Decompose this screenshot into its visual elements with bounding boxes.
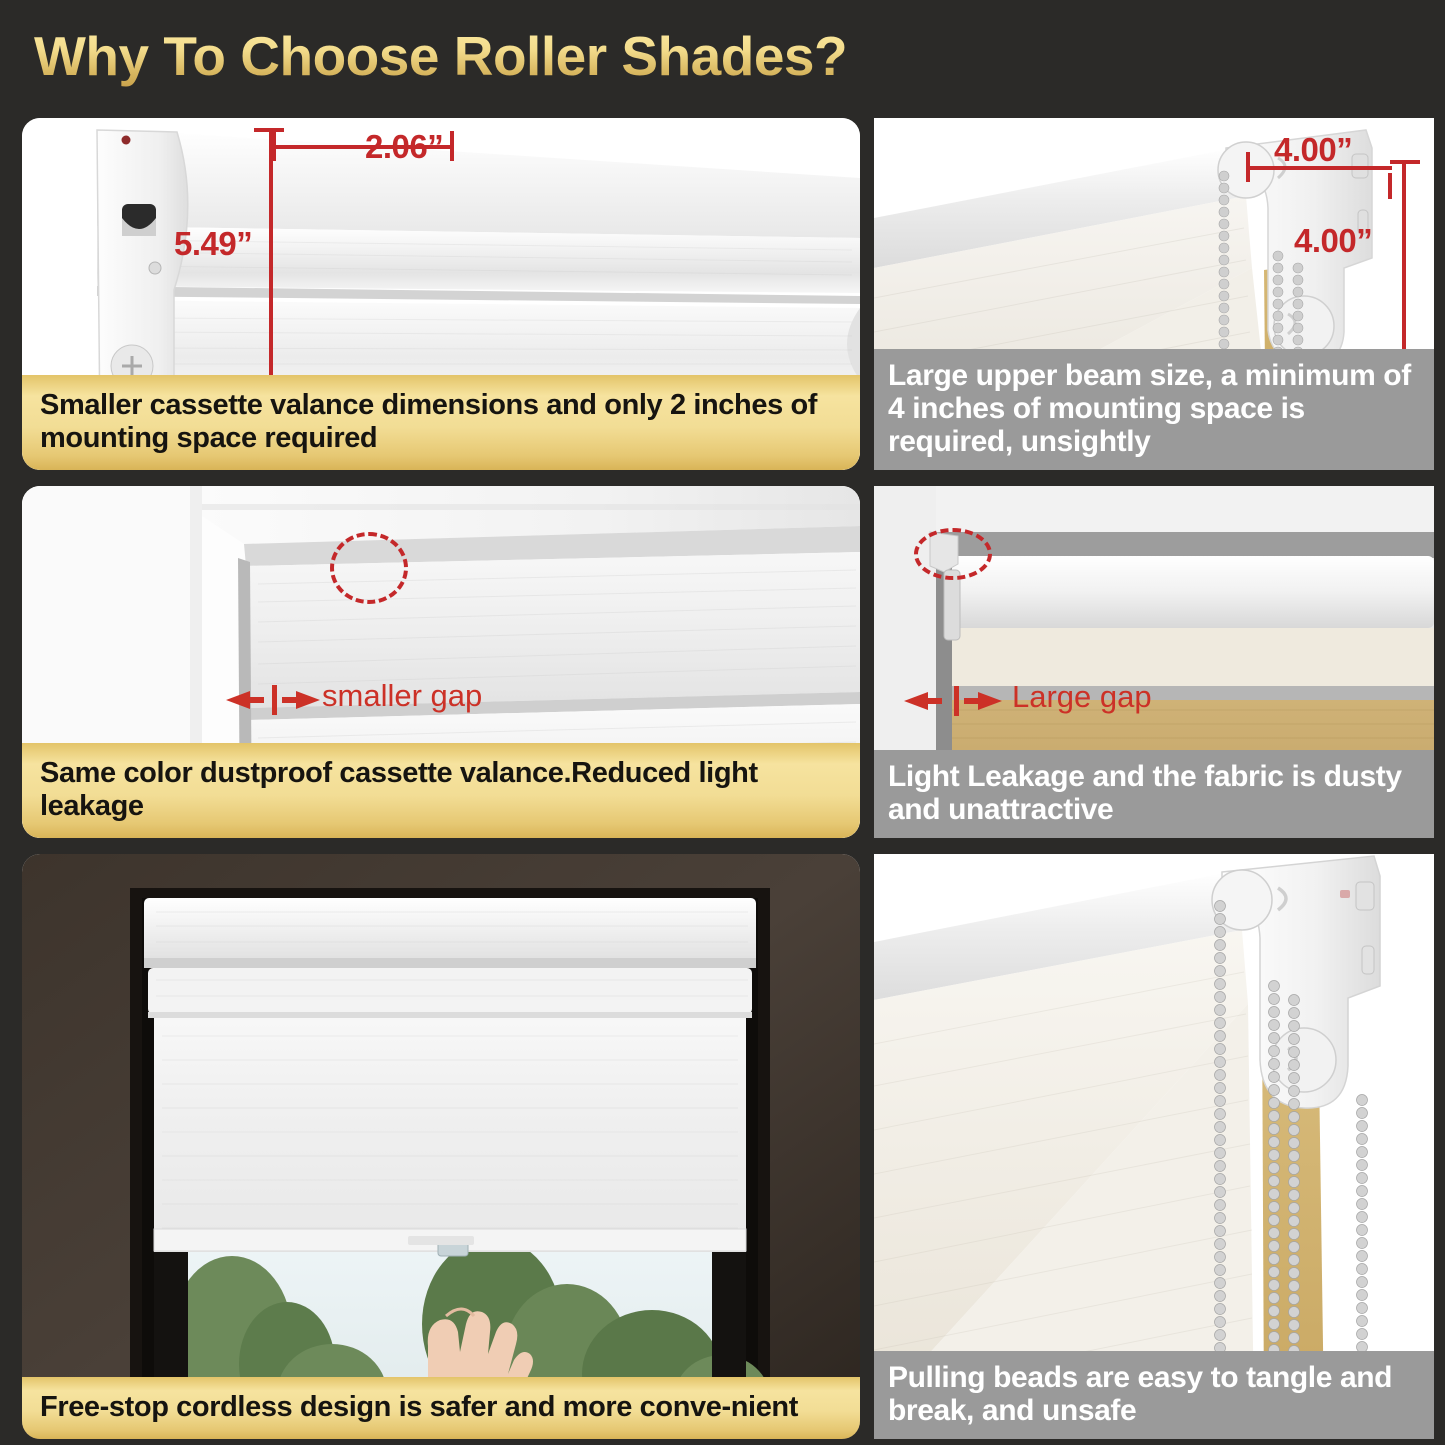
large-gap-arrows: [902, 684, 1012, 718]
large-gap-label: Large gap: [1012, 679, 1152, 715]
beam-height-dimension-label: 4.00”: [1294, 222, 1372, 260]
height-dimension-label: 5.49”: [174, 225, 252, 263]
beam-width-dimension-label: 4.00”: [1274, 131, 1352, 169]
panel-cassette-valance-dimensions[interactable]: 2.06” 5.49” Smaller cassette valance dim…: [22, 118, 860, 470]
panel-caption: Free-stop cordless design is safer and m…: [22, 1377, 860, 1439]
gap-highlight-circle: [914, 528, 992, 580]
header-bar: Why To Choose Roller Shades?: [0, 0, 1445, 112]
width-dimension-tick-right: [450, 131, 454, 161]
page-title: Why To Choose Roller Shades?: [34, 24, 847, 88]
comparison-grid: 2.06” 5.49” Smaller cassette valance dim…: [0, 112, 1445, 1445]
beam-height-dimension-line: [1402, 160, 1406, 360]
panel-large-upper-beam[interactable]: 4.00” 4.00” Large upper beam size, a min…: [874, 118, 1434, 470]
beam-width-tick-left: [1246, 152, 1250, 182]
width-dimension-label: 2.06”: [365, 128, 443, 166]
panel-caption: Large upper beam size, a minimum of 4 in…: [874, 349, 1434, 470]
beam-height-tick-top: [1390, 160, 1420, 164]
gap-highlight-circle: [330, 532, 408, 604]
panel-caption: Pulling beads are easy to tangle and bre…: [874, 1351, 1434, 1439]
smaller-gap-label: smaller gap: [322, 678, 482, 714]
panel-pulling-beads-tangle[interactable]: Pulling beads are easy to tangle and bre…: [874, 854, 1434, 1439]
panel-caption: Light Leakage and the fabric is dusty an…: [874, 750, 1434, 838]
panel-free-stop-cordless-design[interactable]: Free-stop cordless design is safer and m…: [22, 854, 860, 1439]
height-dimension-tick-top: [254, 128, 284, 132]
beam-width-tick-right: [1388, 173, 1392, 199]
panel-light-leakage-dusty-fabric[interactable]: Large gap Light Leakage and the fabric i…: [874, 486, 1434, 838]
panel-caption: Same color dustproof cassette valance.Re…: [22, 743, 860, 838]
cordless-window-photo: [22, 854, 860, 1439]
panel-caption: Smaller cassette valance dimensions and …: [22, 375, 860, 470]
smaller-gap-arrows: [224, 683, 334, 717]
panel-dustproof-cassette-valance[interactable]: smaller gap Same color dustproof cassett…: [22, 486, 860, 838]
